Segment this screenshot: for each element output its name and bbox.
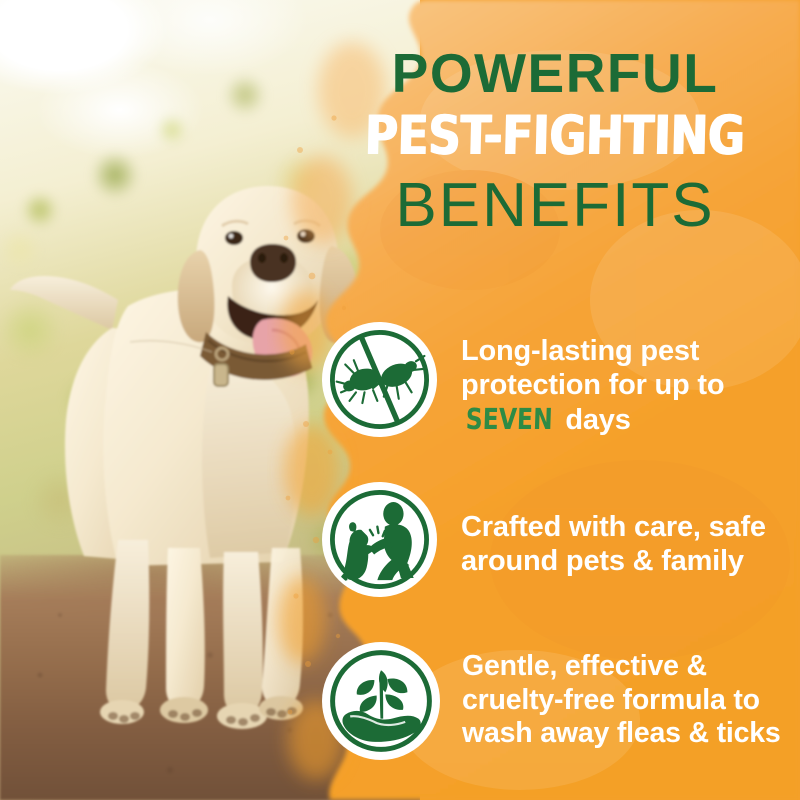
benefit-text: Long-lasting pest protection for up to S…	[461, 326, 796, 438]
benefit-text: Crafted with care, safe around pets & fa…	[461, 486, 796, 578]
benefit-text-after: days	[557, 404, 630, 436]
person-petting-dog-icon	[326, 486, 433, 593]
dog-eye-right	[297, 229, 315, 243]
dog-tail	[10, 276, 118, 330]
benefit-text-before: Long-lasting pest protection for up to	[461, 335, 724, 401]
collar-id-tag	[214, 364, 228, 386]
headline-line-3: BENEFITS	[330, 175, 780, 237]
dog-leg-rear-right	[262, 548, 303, 706]
headline-line-2: PEST-FIGHTING	[347, 109, 762, 163]
dog-leg-front-left	[166, 548, 205, 708]
ad-creative: POWERFUL PEST-FIGHTING BENEFITS	[0, 0, 800, 800]
person-head	[383, 502, 403, 526]
benefit-text: Gentle, effective & cruelty-free formula…	[462, 646, 800, 751]
headline-block: POWERFUL PEST-FIGHTING BENEFITS	[330, 46, 780, 237]
dog-eye-left	[225, 231, 243, 245]
benefit-item: Long-lasting pest protection for up to S…	[326, 326, 796, 438]
benefit-item: Gentle, effective & cruelty-free formula…	[326, 646, 800, 756]
dog-leg-front-right	[223, 552, 263, 714]
dog-nose	[250, 244, 296, 282]
headline-line-1: POWERFUL	[330, 46, 780, 101]
benefit-highlight-seven: SEVEN	[465, 402, 553, 436]
benefit-item: Crafted with care, safe around pets & fa…	[326, 486, 796, 593]
dog-leg-rear-left	[106, 540, 149, 710]
hand-holding-plant-icon	[326, 646, 436, 756]
no-fleas-ticks-icon	[326, 326, 433, 433]
